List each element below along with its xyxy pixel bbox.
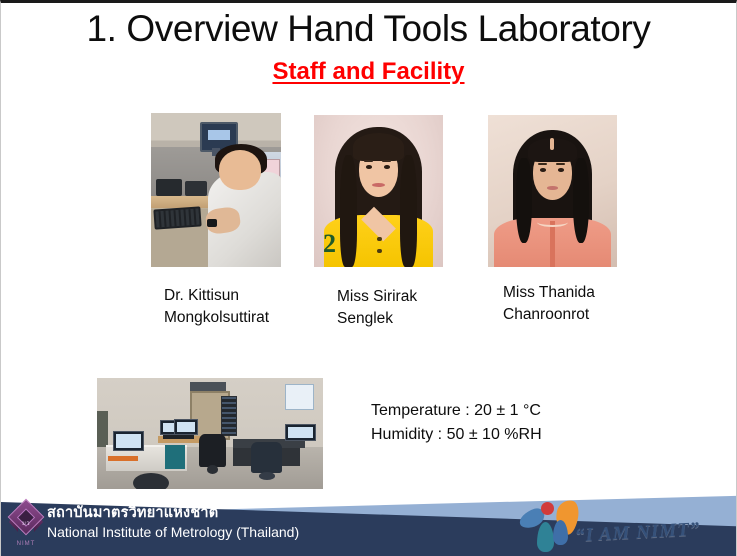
footer-organization: สถาบันมาตรวิทยาแห่งชาติ National Institu… [47, 504, 299, 542]
staff-name-thanida: Miss ThanidaChanroonrot [503, 282, 663, 326]
organization-name-thai: สถาบันมาตรวิทยาแห่งชาติ [47, 504, 299, 523]
portrait-illustration [488, 115, 617, 267]
office-chair-icon [251, 442, 283, 473]
lab-monitor-icon [174, 419, 199, 435]
staff-photo-kittisun [151, 113, 281, 267]
staff-name-kittisun: Dr. KittisunMongkolsuttirat [164, 285, 324, 329]
wall-poster-icon [285, 384, 314, 410]
presentation-slide: 1. Overview Hand Tools Laboratory Staff … [0, 0, 737, 556]
staff-photo-sirirak: 2 [314, 115, 443, 267]
staff-name-sirirak: Miss SirirakSenglek [337, 286, 487, 330]
staff-name-line2: Chanroonrot [503, 306, 589, 323]
staff-name-line1: Miss Thanida [503, 284, 595, 301]
staff-name-line1: Miss Sirirak [337, 288, 417, 305]
organization-name-english: National Institute of Metrology (Thailan… [47, 523, 299, 542]
portrait-illustration: 2 [314, 115, 443, 267]
shirt-number: 2 [323, 229, 336, 259]
staff-name-line1: Dr. Kittisun [164, 287, 239, 304]
page-title: 1. Overview Hand Tools Laboratory [1, 7, 736, 51]
humidity-value: Humidity : 50 ± 10 %RH [371, 423, 542, 447]
laboratory-photo [97, 378, 323, 489]
staff-name-line2: Senglek [337, 310, 393, 327]
environment-conditions: Temperature : 20 ± 1 °C Humidity : 50 ± … [371, 399, 542, 447]
nimt-diamond-logo-icon: มว NIMT [9, 502, 43, 548]
staff-photo-thanida [488, 115, 617, 267]
lab-monitor-icon [285, 424, 316, 442]
temperature-value: Temperature : 20 ± 1 °C [371, 399, 542, 423]
office-chair-icon [133, 473, 169, 489]
i-am-nimt-logo-icon: “I AM NIMT” [509, 496, 719, 554]
lab-monitor-icon [113, 431, 144, 451]
office-chair-icon [199, 434, 226, 467]
equipment-rack-icon [221, 396, 237, 436]
page-subtitle: Staff and Facility [1, 57, 736, 87]
nimt-logo-word: NIMT [9, 541, 43, 547]
office-scene-illustration [151, 113, 281, 267]
staff-name-line2: Mongkolsuttirat [164, 309, 269, 326]
i-am-nimt-slogan: “I AM NIMT” [575, 519, 701, 548]
desk-phone-icon [156, 179, 182, 196]
keyboard-icon [153, 207, 201, 230]
slide-footer: มว NIMT สถาบันมาตรวิทยาแห่งชาติ National… [1, 494, 736, 556]
nimt-logo-thai-mark: มว [9, 518, 43, 528]
